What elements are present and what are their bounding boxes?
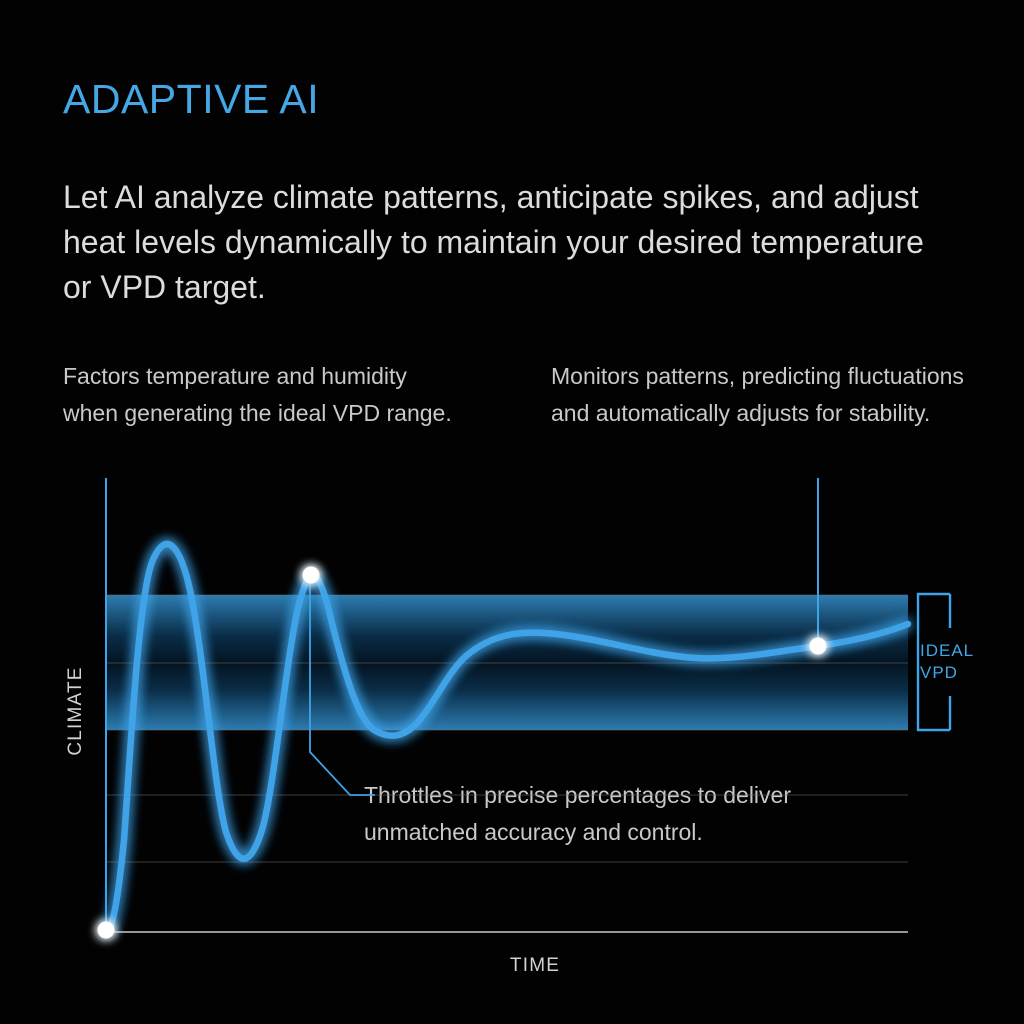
ideal-vpd-label: IDEAL VPD [920, 640, 992, 684]
stability-marker [810, 638, 827, 655]
ideal-vpd-label-line2: VPD [920, 662, 992, 684]
peak-marker [303, 567, 320, 584]
origin-marker [98, 922, 115, 939]
y-axis-label: CLIMATE [65, 631, 87, 791]
x-axis-label: TIME [460, 955, 610, 977]
adaptive-ai-panel: ADAPTIVE AI Let AI analyze climate patte… [0, 0, 1024, 1024]
climate-chart [0, 0, 1024, 1024]
ideal-vpd-label-line1: IDEAL [920, 640, 992, 662]
